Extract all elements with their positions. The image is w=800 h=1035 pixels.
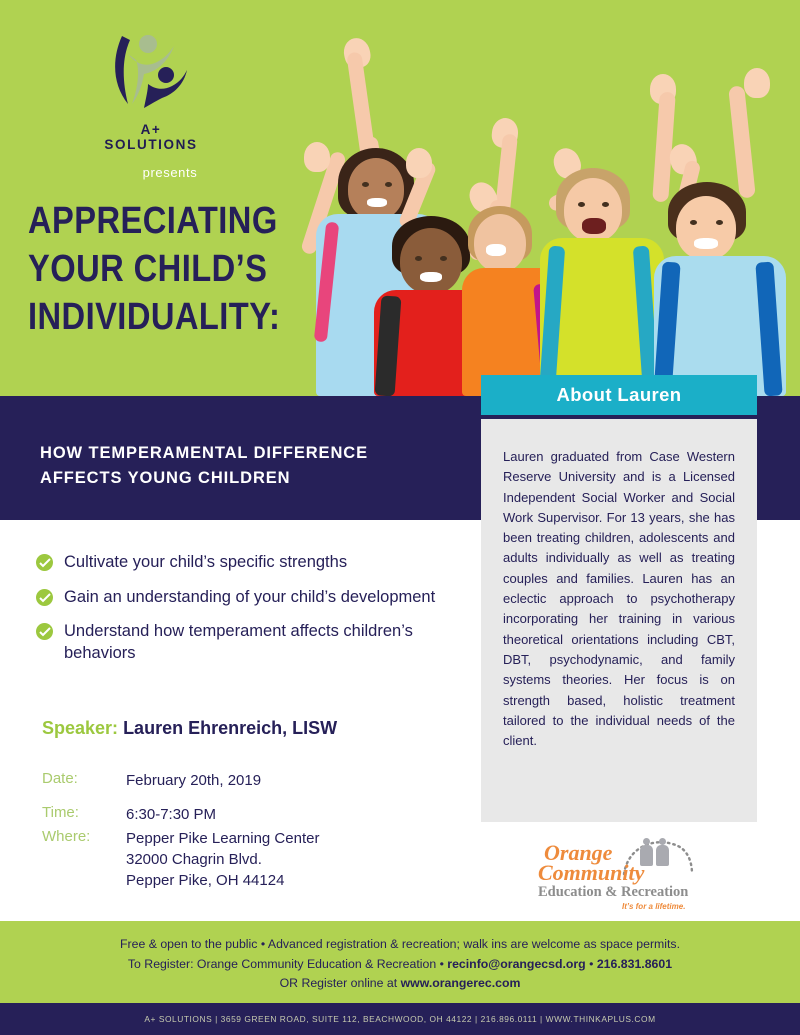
footer-email[interactable]: recinfo@orangecsd.org (447, 957, 585, 971)
about-lauren-header: About Lauren (481, 375, 757, 415)
address-bar-text: A+ SOLUTIONS | 3659 GREEN ROAD, SUITE 11… (144, 1014, 655, 1024)
event-details: Date: February 20th, 2019 Time: 6:30-7:3… (42, 770, 442, 891)
check-circle-icon (36, 589, 53, 606)
page-subtitle-line-2: AFFECTS YOUNG CHILDREN (40, 466, 460, 491)
where-value: Pepper Pike Learning Center 32000 Chagri… (126, 828, 442, 891)
list-item: Cultivate your child’s specific strength… (36, 552, 456, 574)
time-value: 6:30-7:30 PM (126, 804, 442, 825)
speaker-name: Lauren Ehrenreich, LISW (123, 718, 337, 738)
about-lauren-bio: Lauren graduated from Case Western Reser… (503, 447, 735, 751)
orange-community-logo: Orange Community Education & Recreation … (530, 836, 710, 914)
hero-section: A+ SOLUTIONS presents APPRECIATING YOUR … (0, 0, 800, 396)
speaker-label: Speaker: (42, 718, 118, 738)
page-title-line-1: APPRECIATING (28, 197, 286, 245)
page-subtitle: HOW TEMPERAMENTAL DIFFERENCE AFFECTS YOU… (40, 441, 460, 491)
footer-line-1: Free & open to the public • Advanced reg… (0, 921, 800, 955)
footer-register-prefix: To Register: Orange Community Education … (128, 957, 447, 971)
time-label: Time: (42, 804, 118, 821)
orange-logo-line-3: Education & Recreation (538, 884, 688, 901)
orange-logo-line-2: Community (538, 860, 644, 886)
footer-website[interactable]: www.orangerec.com (401, 976, 521, 990)
detail-row-time: Time: 6:30-7:30 PM (42, 804, 442, 828)
detail-row-date: Date: February 20th, 2019 (42, 770, 442, 804)
footer-phone[interactable]: 216.831.8601 (597, 957, 672, 971)
footer-sep: • (586, 957, 597, 971)
two-figures-icon (640, 838, 674, 868)
date-label: Date: (42, 770, 118, 787)
registration-footer: Free & open to the public • Advanced reg… (0, 921, 800, 1003)
about-lauren-heading: About Lauren (556, 384, 681, 406)
footer-online-prefix: OR Register online at (280, 976, 401, 990)
list-item: Gain an understanding of your child’s de… (36, 587, 456, 609)
brand-logo: A+ SOLUTIONS (92, 28, 210, 152)
list-item-label: Gain an understanding of your child’s de… (64, 588, 435, 606)
orange-logo-tagline: It’s for a lifetime. (622, 902, 685, 911)
brand-logo-text: A+ SOLUTIONS (92, 122, 210, 152)
children-raising-hands-photo (282, 0, 800, 396)
list-item-label: Understand how temperament affects child… (64, 622, 413, 662)
list-item-label: Cultivate your child’s specific strength… (64, 553, 347, 571)
speaker-line: Speaker: Lauren Ehrenreich, LISW (42, 718, 337, 739)
date-value: February 20th, 2019 (126, 770, 442, 791)
page-title-line-3: INDIVIDUALITY: (28, 293, 286, 341)
a-plus-solutions-mark-icon (92, 28, 210, 110)
page-title: APPRECIATING YOUR CHILD’S INDIVIDUALITY: (28, 197, 286, 341)
check-circle-icon (36, 623, 53, 640)
footer-line-3: OR Register online at www.orangerec.com (0, 974, 800, 994)
page-title-line-2: YOUR CHILD’S (28, 245, 286, 293)
address-bar: A+ SOLUTIONS | 3659 GREEN ROAD, SUITE 11… (0, 1003, 800, 1035)
benefits-list: Cultivate your child’s specific strength… (36, 552, 456, 677)
list-item: Understand how temperament affects child… (36, 621, 456, 664)
flyer-page: A+ SOLUTIONS presents APPRECIATING YOUR … (0, 0, 800, 1035)
detail-row-where: Where: Pepper Pike Learning Center 32000… (42, 828, 442, 891)
about-lauren-panel: Lauren graduated from Case Western Reser… (481, 419, 757, 822)
footer-line-2: To Register: Orange Community Education … (0, 955, 800, 975)
presents-label: presents (110, 165, 230, 180)
where-label: Where: (42, 828, 118, 845)
page-subtitle-line-1: HOW TEMPERAMENTAL DIFFERENCE (40, 441, 460, 466)
check-circle-icon (36, 554, 53, 571)
